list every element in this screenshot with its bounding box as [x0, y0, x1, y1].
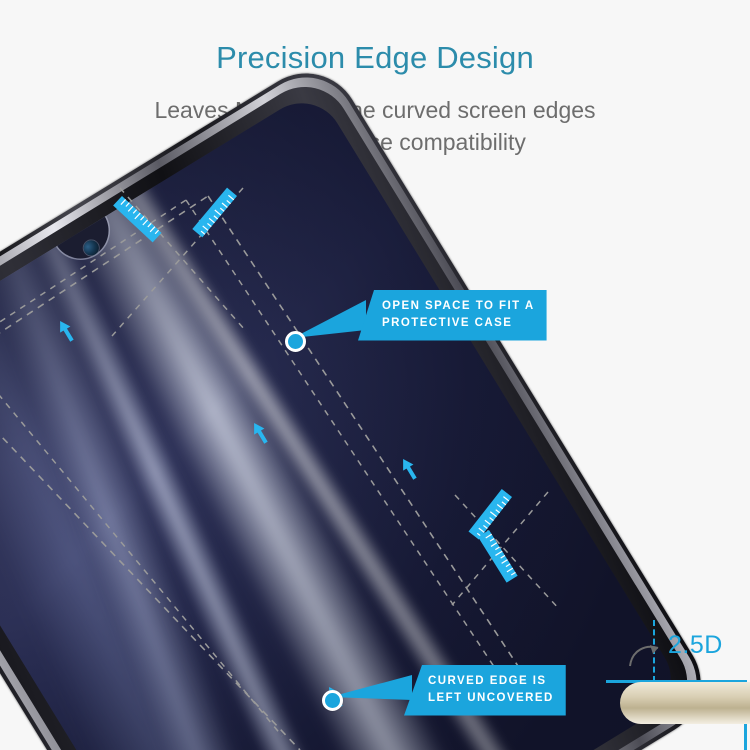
callout-open-space[interactable]: OPEN SPACE TO FIT A PROTECTIVE CASE — [358, 290, 547, 341]
callout-anchor-dot-curved — [322, 690, 343, 711]
callout-open-space-line-2: PROTECTIVE CASE — [382, 315, 535, 332]
edge-profile-inset: 2.5D — [606, 606, 750, 750]
product-banner: Precision Edge Design Leaves Mobile Phon… — [0, 0, 750, 750]
callout-curved-edge-line-1: CURVED EDGE IS — [428, 673, 554, 690]
glass-edge-cross-section — [620, 682, 750, 724]
callout-open-space-line-1: OPEN SPACE TO FIT A — [382, 298, 535, 315]
phone-screen — [0, 88, 687, 750]
callout-anchor-dot-open — [285, 331, 306, 352]
callout-curved-edge-line-2: LEFT UNCOVERED — [428, 690, 554, 707]
page-title: Precision Edge Design — [0, 40, 750, 76]
subtitle-line-1: Leaves Mobile Phone curved screen edges — [0, 95, 750, 127]
callout-curved-edge[interactable]: CURVED EDGE IS LEFT UNCOVERED — [404, 665, 566, 716]
phone-inner-bezel — [0, 70, 704, 750]
screen-shading — [0, 88, 687, 750]
inset-label: 2.5D — [668, 631, 723, 660]
notch-shape — [44, 195, 119, 269]
